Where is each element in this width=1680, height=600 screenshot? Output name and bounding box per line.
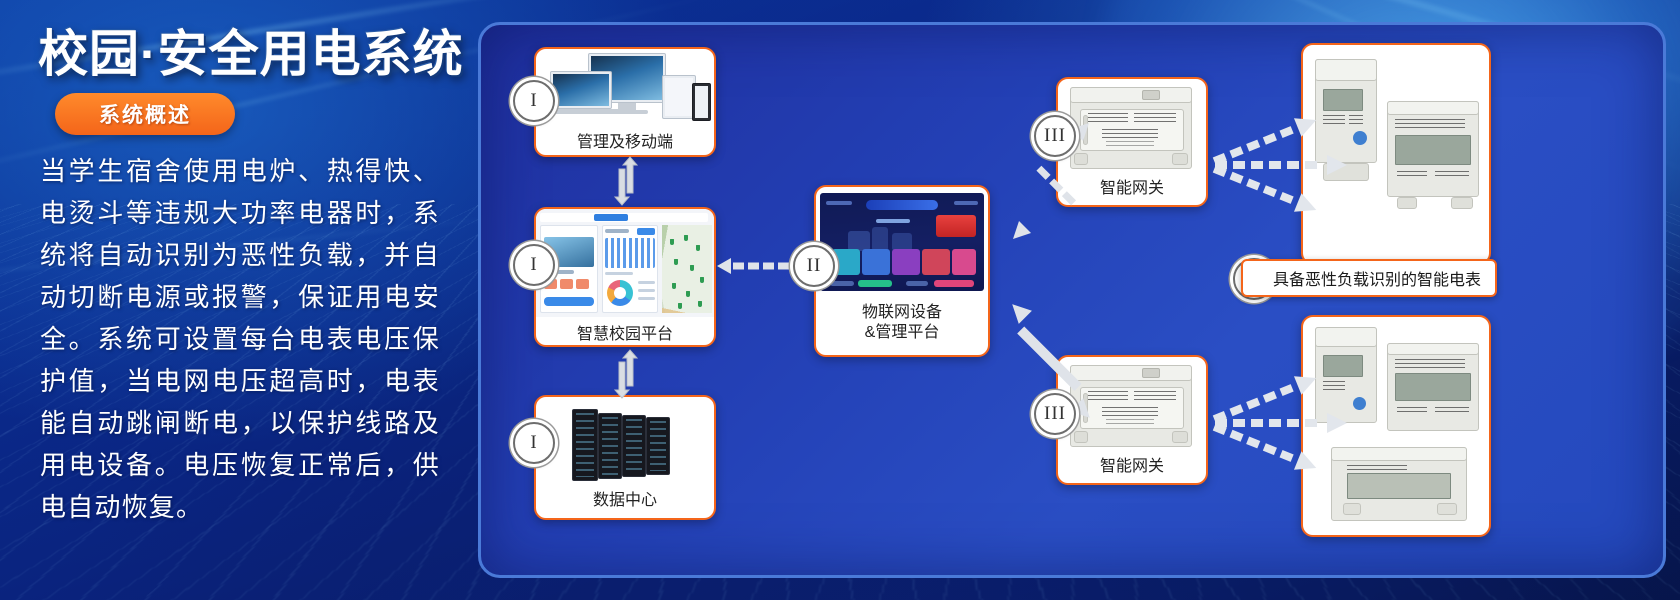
dashboard-map-icon [534, 209, 716, 317]
poster-canvas: 校园·安全用电系统 系统概述 当学生宿舍使用电炉、热得快、电烫斗等违规大功率电器… [0, 0, 1680, 600]
intro-column: 校园·安全用电系统 系统概述 当学生宿舍使用电炉、热得快、电烫斗等违规大功率电器… [0, 0, 470, 600]
arrow-admin-to-campus [606, 157, 646, 205]
iot-dashboard-icon [814, 187, 990, 297]
meter-group-label: 具备恶性负载识别的智能电表 [1273, 266, 1481, 290]
arrow-campus-to-datacenter [606, 350, 646, 398]
step-badge-1: I [513, 80, 555, 122]
devices-icon [534, 49, 716, 129]
architecture-diagram-panel: 管理及移动端 I [478, 22, 1666, 578]
section-badge-label: 系统概述 [99, 99, 191, 129]
node-iot-platform[interactable]: 物联网设备 &管理平台 [814, 185, 990, 357]
arrow-gateway-bottom-to-meters [1197, 343, 1387, 503]
node-label: 数据中心 [536, 491, 714, 511]
step-badge-4: II [793, 245, 835, 287]
step-badge-5: III [1034, 115, 1076, 157]
node-label: 智能网关 [1058, 457, 1206, 477]
node-label: 管理及移动端 [536, 133, 714, 153]
step-badge-2: I [513, 244, 555, 286]
arrow-gateway-top-to-meters [1197, 85, 1387, 245]
step-badge-6: III [1034, 393, 1076, 435]
node-label: 智慧校园平台 [536, 325, 714, 345]
server-rack-icon [534, 397, 716, 489]
system-description: 当学生宿舍使用电炉、热得快、电烫斗等违规大功率电器时，系统将自动识别为恶性负载，… [40, 150, 440, 528]
node-label-line2: &管理平台 [816, 323, 988, 343]
step-badge-3: I [513, 422, 555, 464]
node-admin-mobile[interactable]: 管理及移动端 [534, 47, 716, 157]
page-title: 校园·安全用电系统 [38, 14, 464, 86]
node-label: 物联网设备 [816, 303, 988, 323]
meter-group-label-pill[interactable]: 具备恶性负载识别的智能电表 [1241, 259, 1497, 297]
node-smart-campus[interactable]: 智慧校园平台 [534, 207, 716, 347]
node-data-center[interactable]: 数据中心 [534, 395, 716, 520]
section-badge: 系统概述 [55, 93, 235, 135]
